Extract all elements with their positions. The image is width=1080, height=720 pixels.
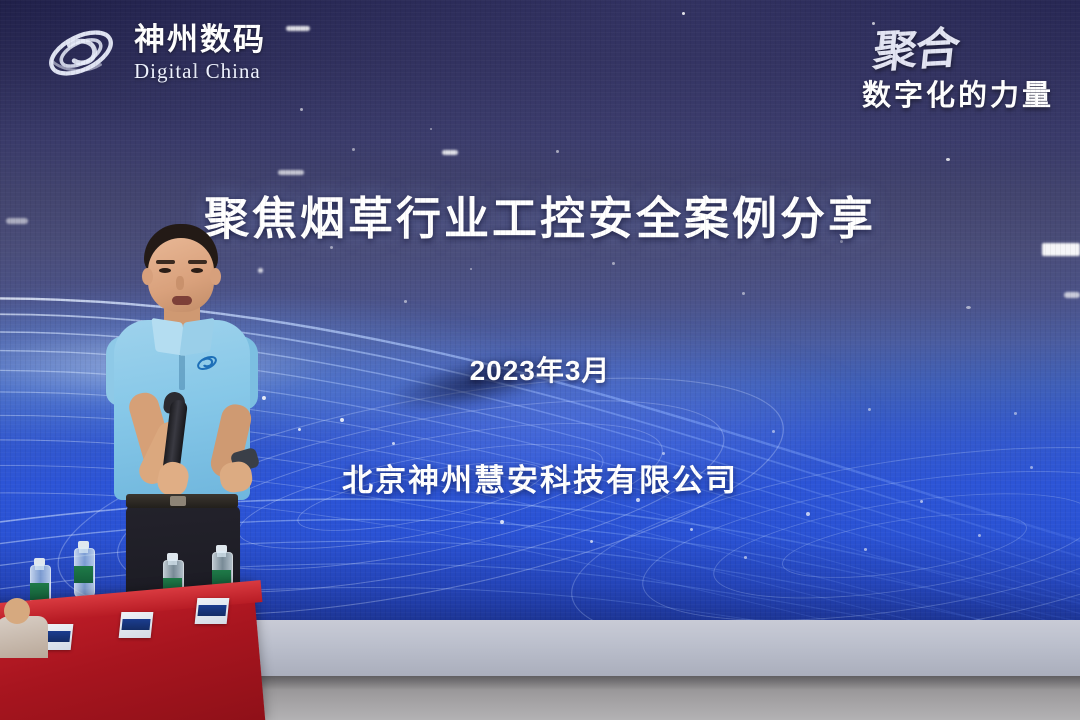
bottle-neck [79,547,88,553]
speaker-presenter [96,224,296,624]
speaker-mouth [172,296,192,305]
name-card [119,612,154,638]
water-bottle [74,548,95,598]
light-streak-e [1064,292,1080,298]
speaker-eyebrow-right [188,260,207,264]
speaker-collar-right [179,318,214,356]
speaker-nose [176,276,184,290]
seated-attendee-shoulders [0,616,48,658]
bottle-label [74,566,93,583]
bottle-body [74,548,95,598]
speaker-ear-left [142,268,153,285]
seated-attendee [0,598,50,658]
light-streak-b [278,170,304,175]
brand-logo-english-name: Digital China [134,61,266,82]
event-logo-calligraphy: 聚合 [870,12,961,80]
bottle-neck [168,559,177,565]
bottle-neck [217,551,226,557]
brand-logo-chinese-name: 神州数码 [134,24,266,55]
speaker-eye-left [159,268,171,273]
speaker-eyebrow-left [156,260,175,264]
event-logo: 聚合 数字化的力量 [862,14,1054,114]
speaker-eye-right [191,268,203,273]
name-card-band [197,605,226,616]
speaker-ear-right [210,268,221,285]
name-card-band [121,619,150,630]
light-streak-c [442,150,458,155]
light-streak-a [286,26,310,31]
name-card [195,598,230,624]
speaker-belt-buckle [170,496,186,506]
seated-attendee-head [4,598,30,624]
bottle-neck [35,564,44,570]
swirl-galaxy-logo-icon [42,18,120,88]
conference-stage-photo: 神州数码 Digital China 聚合 数字化的力量 聚焦烟草行业工控安全案… [0,0,1080,720]
brand-logo-digital-china: 神州数码 Digital China [42,18,266,88]
speaker-shirt-emblem-icon [196,352,218,374]
